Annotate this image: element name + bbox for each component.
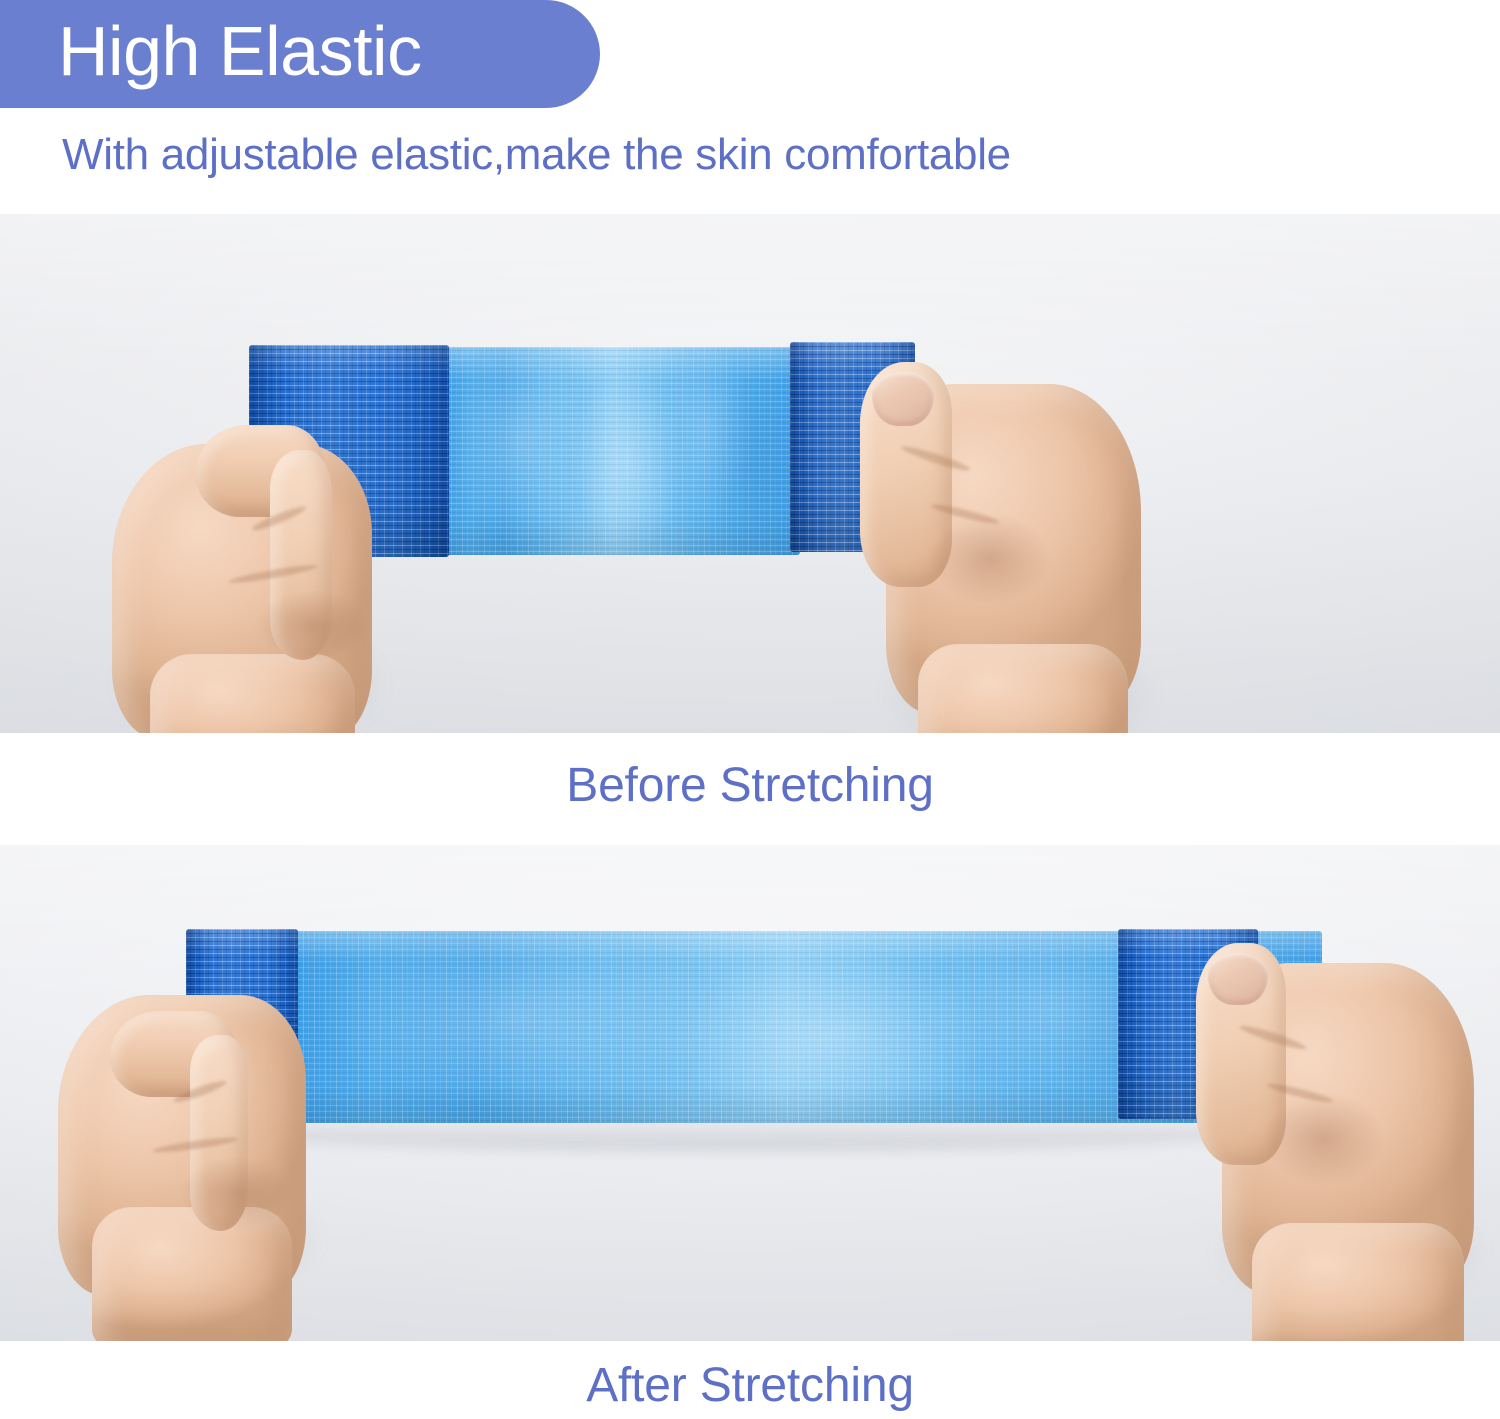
- photo-before-stretching: [0, 214, 1500, 733]
- right-wrist: [1252, 1223, 1464, 1341]
- photo-after-stretching: [0, 845, 1500, 1341]
- title-badge: High Elastic: [0, 0, 600, 108]
- left-knuckle-shadow: [182, 1157, 292, 1229]
- right-knuckle-shadow: [1264, 1093, 1384, 1185]
- right-thumbnail: [872, 372, 934, 426]
- left-knuckle-shadow: [258, 590, 368, 660]
- caption-before-stretching: Before Stretching: [0, 758, 1500, 813]
- caption-after-stretching: After Stretching: [0, 1358, 1500, 1413]
- product-feature-page: High Elastic With adjustable elastic,mak…: [0, 0, 1500, 1419]
- fabric-mottle-texture: [440, 347, 800, 555]
- left-wrist: [150, 654, 355, 733]
- right-knuckle-shadow: [930, 514, 1050, 604]
- subtitle-text: With adjustable elastic,make the skin co…: [62, 130, 1011, 180]
- right-thumbnail: [1208, 953, 1268, 1005]
- right-wrist: [918, 644, 1128, 733]
- page-title: High Elastic: [0, 16, 422, 92]
- bandage-middle-section: [440, 347, 800, 555]
